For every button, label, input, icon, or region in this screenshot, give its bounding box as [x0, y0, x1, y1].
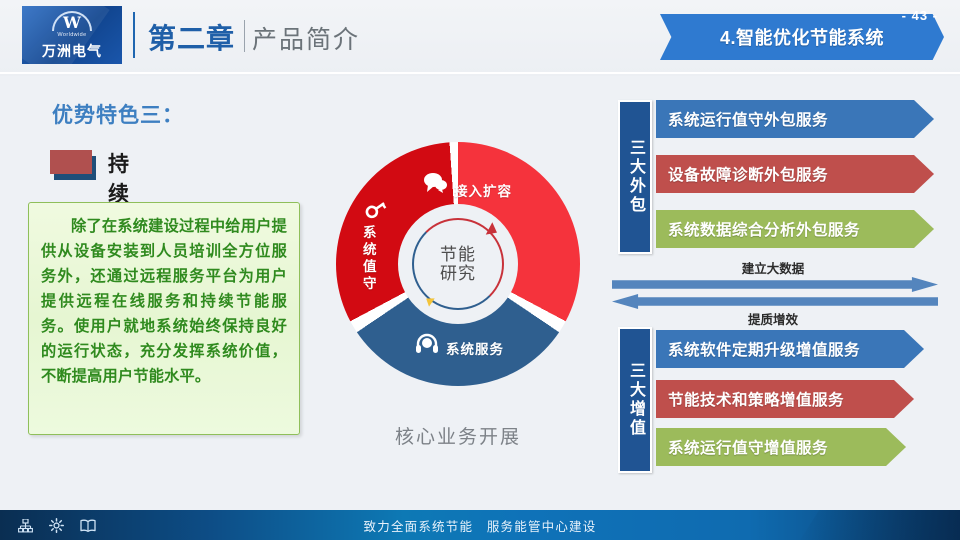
headset-icon	[414, 332, 440, 361]
bullet-square-front	[50, 150, 92, 174]
company-logo: W Worldwide 万洲电气	[22, 6, 122, 64]
feature-heading: 优势特色三：	[52, 99, 184, 129]
header-divider	[133, 12, 135, 58]
donut-center-line2: 研究	[440, 264, 476, 283]
logo-subtitle: Worldwide	[22, 32, 122, 38]
chapter-title: 第二章	[148, 17, 235, 57]
flow-arrow-left-label: 提质增效	[608, 309, 938, 328]
outsource-item-1[interactable]: 设备故障诊断外包服务	[656, 155, 934, 193]
page-number: - 43 -	[902, 0, 938, 30]
group-label-value: 三大增值	[618, 327, 652, 473]
flow-arrows: 建立大数据 提质增效	[608, 258, 938, 320]
donut-segment-label-1: 系统服务	[446, 338, 504, 358]
value-item-1-label: 节能技术和策略增值服务	[656, 388, 844, 410]
donut-center-line1: 节能	[440, 245, 476, 264]
value-item-2-label: 系统运行值守增值服务	[656, 436, 828, 458]
footer-corner-accent	[800, 510, 960, 540]
value-item-1[interactable]: 节能技术和策略增值服务	[656, 380, 914, 418]
key-icon	[364, 198, 388, 225]
donut-chart-caption: 核心业务开展	[336, 422, 580, 449]
outsource-item-1-label: 设备故障诊断外包服务	[656, 163, 828, 185]
value-item-2[interactable]: 系统运行值守增值服务	[656, 428, 906, 466]
logo-w-mark: W	[22, 13, 122, 32]
flow-arrow-right-icon	[612, 277, 938, 292]
donut-segment-label-2: 系统值守	[363, 224, 381, 292]
description-panel: 除了在系统建设过程中给用户提供从设备安装到人员培训全方位服务外，还通过远程服务平…	[28, 202, 300, 435]
outsource-item-2-label: 系统数据综合分析外包服务	[656, 218, 860, 240]
outsource-item-2[interactable]: 系统数据综合分析外包服务	[656, 210, 934, 248]
logo-company-name: 万洲电气	[22, 41, 122, 61]
value-item-0[interactable]: 系统软件定期升级增值服务	[656, 330, 924, 368]
group-label-outsource: 三大外包	[618, 100, 652, 254]
flow-arrow-left-icon	[612, 294, 938, 309]
core-business-donut-chart: 节能 研究 接入扩容 系统值守	[336, 142, 580, 386]
description-text: 除了在系统建设过程中给用户提供从设备安装到人员培训全方位服务外，还通过远程服务平…	[41, 214, 287, 389]
header-rule	[0, 72, 960, 74]
value-item-0-label: 系统软件定期升级增值服务	[656, 338, 860, 360]
donut-center-label: 节能 研究	[398, 204, 518, 324]
slide-root: W Worldwide 万洲电气 第二章 产品简介 4.智能优化节能系统 优势特…	[0, 0, 960, 540]
outsource-item-0[interactable]: 系统运行值守外包服务	[656, 100, 934, 138]
donut-segment-label-0: 接入扩容	[454, 180, 512, 200]
chapter-separator	[244, 20, 245, 52]
flow-arrow-right-label: 建立大数据	[608, 258, 938, 277]
chapter-subtitle: 产品简介	[252, 20, 360, 56]
speech-bubble-icon	[422, 172, 448, 199]
outsource-item-0-label: 系统运行值守外包服务	[656, 108, 828, 130]
